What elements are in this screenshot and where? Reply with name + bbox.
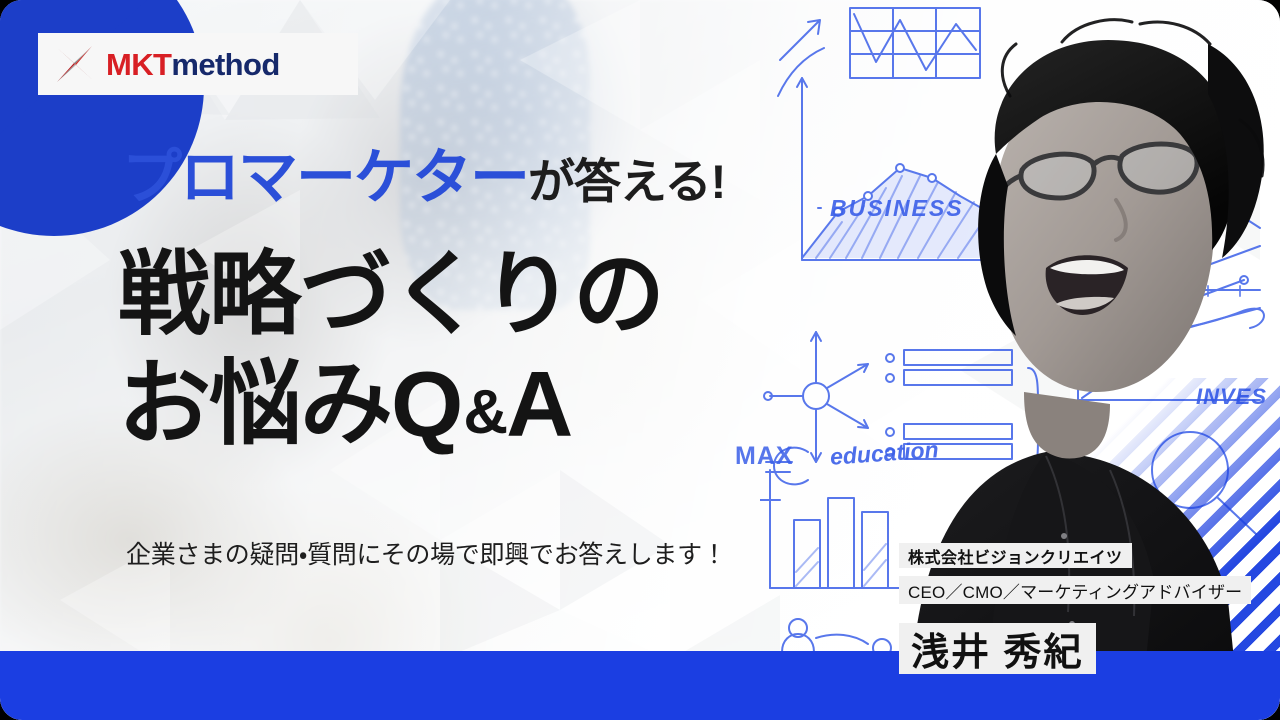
title-line-2: お悩みQ&A (118, 356, 573, 453)
four-point-star-icon (54, 43, 96, 85)
logo-wordmark: MKTmethod (106, 49, 280, 80)
logo-text-method: method (171, 47, 279, 82)
mkt-method-logo[interactable]: MKTmethod (38, 33, 358, 95)
speaker-name: 浅井 秀紀 (899, 623, 1096, 674)
lead-copy: 企業さまの疑問・質問にその場で即興でお答えします！ (126, 535, 727, 571)
title-line-1-text: 戦略づくりの (118, 244, 664, 346)
title-line-2-q: Q (391, 352, 463, 456)
presenter-photo (810, 0, 1280, 720)
speaker-role: CEO／CMO／マーケティングアドバイザー (899, 576, 1251, 604)
kicker-tail-text: が答える! (528, 155, 725, 208)
speaker-company: 株式会社ビジョンクリエイツ (899, 543, 1132, 568)
title-line-2-jp: お悩み (118, 352, 391, 456)
title-line-1: 戦略づくりの (118, 248, 664, 344)
kicker-line: プロマーケターが答える! (122, 148, 725, 208)
title-line-2-text: お悩みQ&A (118, 352, 573, 456)
promo-banner: BUSINESS education MAX INVES (0, 0, 1280, 720)
main-title: 戦略づくりの お悩みQ&A (118, 248, 664, 452)
title-line-2-amp: & (463, 378, 506, 447)
kicker-highlight-text: プロマーケター (122, 144, 528, 211)
title-line-2-a: A (506, 352, 573, 456)
logo-text-mkt: MKT (106, 47, 171, 82)
sketch-word-max: MAX (735, 442, 794, 471)
